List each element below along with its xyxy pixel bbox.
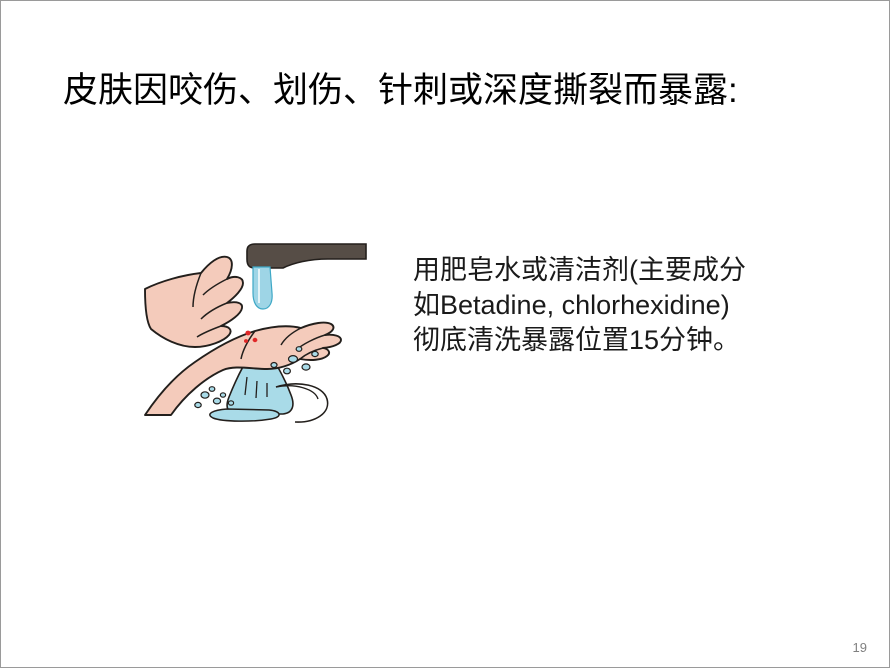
droplet-2 <box>302 364 310 370</box>
illustration-group <box>145 244 366 422</box>
water-stream-group <box>253 267 272 309</box>
droplet-1 <box>289 356 298 363</box>
wound-dot-2 <box>253 338 258 342</box>
droplet-5 <box>271 363 277 368</box>
upper-hand-group <box>145 257 243 347</box>
faucet-spout <box>247 244 366 268</box>
handwashing-illustration-svg <box>143 237 371 427</box>
body-text-line-3: 彻底清洗暴露位置15分钟。 <box>413 323 793 358</box>
droplet-8 <box>213 398 220 404</box>
droplet-3 <box>284 368 291 374</box>
droplet-9 <box>195 402 201 407</box>
body-text-block: 用肥皂水或清洁剂(主要成分 如Betadine, chlorhexidine) … <box>413 253 793 358</box>
droplet-10 <box>209 387 215 392</box>
droplet-12 <box>228 401 233 405</box>
page-number: 19 <box>853 640 867 655</box>
wound-dot-3 <box>244 339 248 343</box>
droplet-11 <box>220 393 225 397</box>
droplet-4 <box>312 351 318 356</box>
slide-canvas: 皮肤因咬伤、划伤、针刺或深度撕裂而暴露: <box>0 0 890 668</box>
wound-dot-1 <box>245 331 250 336</box>
faucet-group <box>247 244 366 268</box>
body-text-line-2: 如Betadine, chlorhexidine) <box>413 288 793 323</box>
droplet-7 <box>201 392 209 398</box>
droplet-6 <box>296 347 302 352</box>
body-text-line-1: 用肥皂水或清洁剂(主要成分 <box>413 253 793 288</box>
page-title: 皮肤因咬伤、划伤、针刺或深度撕裂而暴露: <box>63 69 853 113</box>
handwashing-under-faucet-illustration <box>143 237 371 427</box>
water-puddle-shape <box>210 409 279 421</box>
water-stream <box>253 267 272 309</box>
